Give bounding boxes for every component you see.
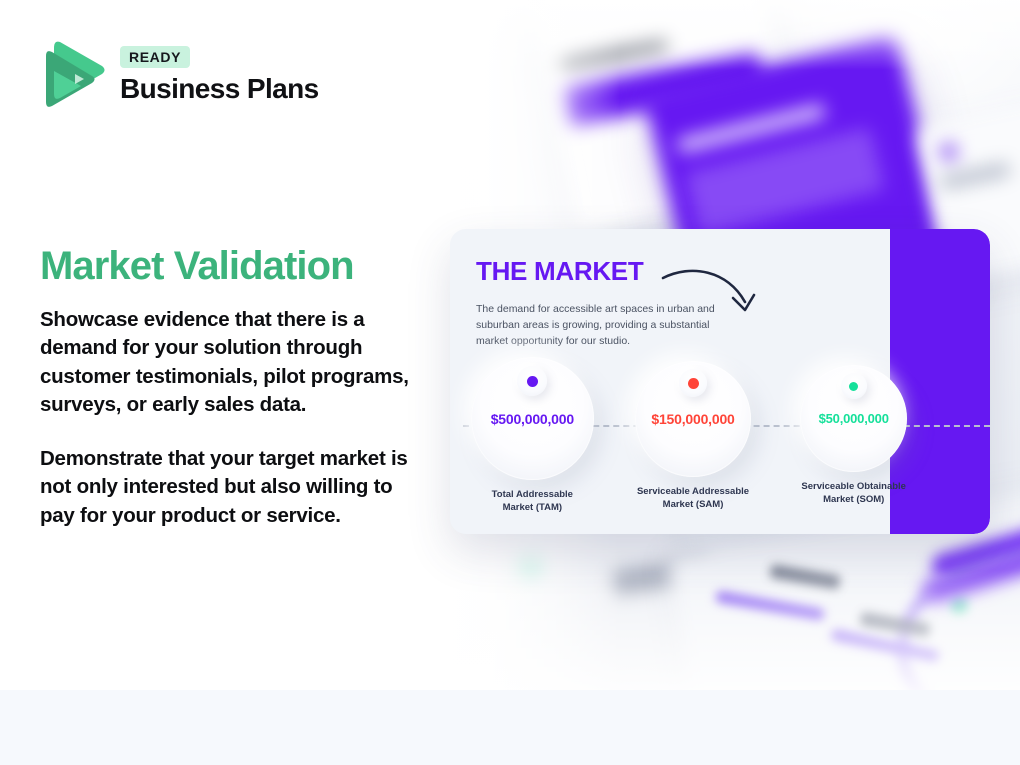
- blurred-dot: [939, 142, 958, 161]
- gauge-som: $50,000,000 Serviceable Obtainable Marke…: [784, 357, 923, 515]
- gauge-knob: [517, 366, 547, 396]
- card-content: THE MARKET The demand for accessible art…: [463, 229, 990, 534]
- gauge-knob: [841, 373, 867, 399]
- play-triangle-logo-icon: [40, 38, 106, 112]
- slide-stage: READY Business Plans Market Validation S…: [0, 0, 1020, 765]
- card-title: THE MARKET: [476, 258, 643, 284]
- gauge-sam: $150,000,000 Serviceable Addressable Mar…: [624, 357, 763, 515]
- gauge-label: Total Addressable Market (TAM): [463, 489, 602, 515]
- gauge-tam: $500,000,000 Total Addressable Market (T…: [463, 357, 602, 515]
- market-gauges: $500,000,000 Total Addressable Market (T…: [463, 357, 923, 515]
- gauge-indicator-dot-icon: [688, 378, 699, 389]
- left-content-panel: READY Business Plans Market Validation S…: [0, 0, 432, 690]
- brand-lockup: READY Business Plans: [40, 38, 319, 112]
- gauge-value: $50,000,000: [819, 411, 889, 426]
- paragraph-2: Demonstrate that your target market is n…: [40, 445, 420, 530]
- gauge-value: $500,000,000: [491, 411, 574, 427]
- card-description: The demand for accessible art spaces in …: [476, 302, 731, 350]
- gauge-label-line1: Total Addressable: [463, 489, 602, 502]
- gauge-dial: $500,000,000: [471, 357, 594, 480]
- brand-name: Business Plans: [120, 74, 319, 105]
- paragraph-1: Showcase evidence that there is a demand…: [40, 306, 420, 419]
- gauge-label-line2: Market (SAM): [624, 499, 763, 512]
- body-copy: Showcase evidence that there is a demand…: [40, 306, 420, 530]
- gauge-dial: $50,000,000: [800, 365, 907, 472]
- gauge-label: Serviceable Obtainable Market (SOM): [784, 481, 923, 507]
- gauge-knob: [679, 369, 707, 397]
- brand-text: READY Business Plans: [120, 46, 319, 105]
- gauge-label: Serviceable Addressable Market (SAM): [624, 486, 763, 512]
- gauge-label-line2: Market (SOM): [784, 494, 923, 507]
- blurred-mint-dot: [513, 553, 543, 583]
- gauge-label-line1: Serviceable Obtainable: [784, 481, 923, 494]
- page-title: Market Validation: [40, 245, 440, 287]
- gauge-indicator-dot-icon: [849, 382, 858, 391]
- gauge-dial: $150,000,000: [635, 361, 751, 477]
- blurred-text-line: [558, 37, 668, 70]
- gauge-label-line1: Serviceable Addressable: [624, 486, 763, 499]
- gauge-indicator-dot-icon: [527, 376, 538, 387]
- blurred-label-bar: [940, 162, 1011, 190]
- market-slide-card: THE MARKET The demand for accessible art…: [450, 229, 990, 534]
- ready-badge: READY: [120, 46, 190, 68]
- gauge-value: $150,000,000: [651, 411, 734, 427]
- footer-band: [0, 690, 1020, 765]
- gauge-label-line2: Market (TAM): [463, 502, 602, 515]
